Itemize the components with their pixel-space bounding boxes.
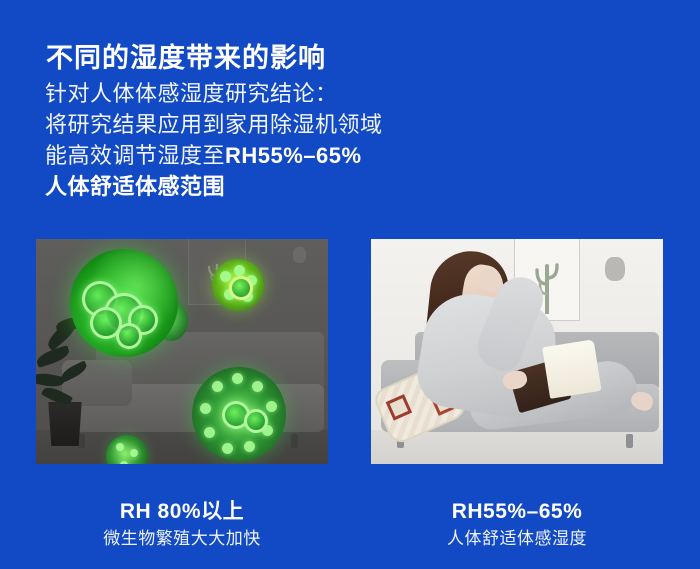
plant-leaf [59, 360, 89, 382]
room-scene-dim [36, 239, 328, 464]
sofa-leg-right [291, 434, 298, 448]
panel-image-comfort-humidity [371, 239, 663, 464]
room-scene-bright [371, 239, 663, 464]
plant-leaf [36, 371, 65, 389]
humidity-infographic-poster: 不同的湿度带来的影响 针对人体体感湿度研究结论： 将研究结果应用到家用除湿机领域… [0, 0, 700, 569]
microbe-ring [244, 409, 268, 433]
microbe-ring [116, 323, 142, 349]
body-copy-line-2: 将研究结果应用到家用除湿机领域 [45, 109, 495, 140]
body-copy-line-3: 能高效调节湿度至RH55%–65% [45, 140, 495, 171]
body-copy-line-3-text: 能高效调节湿度至 [45, 143, 225, 168]
body-copy-line-4: 人体舒适体感范围 [45, 171, 495, 202]
microbe-ring [229, 276, 253, 300]
person-reading [371, 239, 663, 464]
caption-title: RH 80%以上 [32, 498, 332, 526]
caption-subtitle: 微生物繁殖大大加快 [32, 526, 332, 552]
page-title: 不同的湿度带来的影响 [46, 36, 326, 75]
body-copy-line-1: 针对人体体感湿度研究结论： [45, 78, 495, 109]
microbe-sphere-large [70, 249, 178, 357]
caption-subtitle: 人体舒适体感湿度 [367, 526, 667, 552]
body-copy-line-3-emphasis: RH55%–65% [225, 143, 362, 168]
microbe-sphere-small [212, 259, 264, 311]
microbe-sphere-corona [192, 367, 286, 461]
book-page-right [542, 339, 601, 398]
body-copy-block: 针对人体体感湿度研究结论： 将研究结果应用到家用除湿机领域 能高效调节湿度至RH… [45, 78, 495, 202]
wall-speaker-icon [293, 247, 306, 263]
caption-title: RH55%–65% [367, 498, 667, 526]
caption-row: RH 80%以上 微生物繁殖大大加快 RH55%–65% 人体舒适体感湿度 [0, 498, 700, 569]
plant-pot [46, 402, 84, 446]
panel-image-high-humidity [36, 239, 328, 464]
photo-row [0, 239, 700, 464]
caption-comfort-humidity: RH55%–65% 人体舒适体感湿度 [367, 498, 667, 552]
caption-high-humidity: RH 80%以上 微生物繁殖大大加快 [32, 498, 332, 552]
